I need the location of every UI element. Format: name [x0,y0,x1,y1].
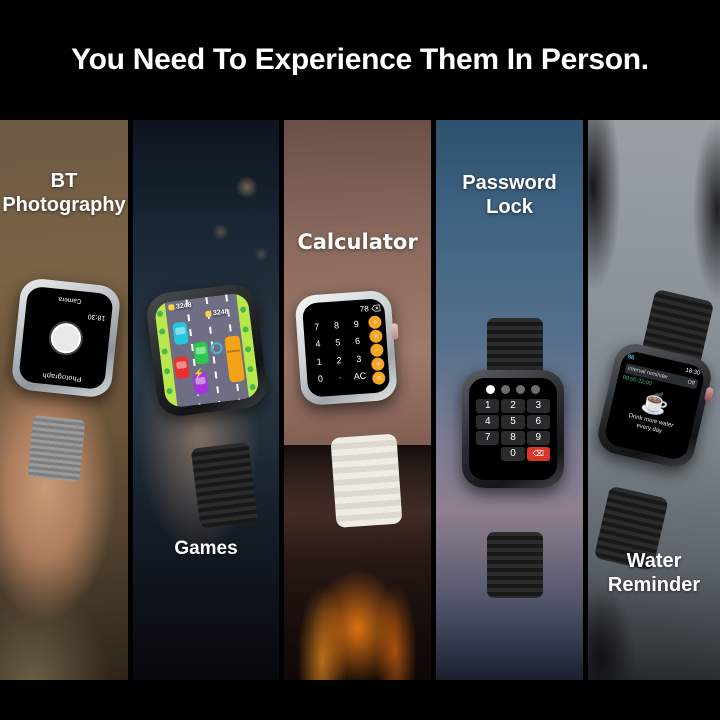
op-divide[interactable]: ÷ [368,315,382,329]
watch-band-bottom [487,532,543,598]
watch-screen: ⚡ 3248 3248 [153,292,260,409]
score-badge-icon [205,311,212,318]
interval-reminder-value: Off [687,379,695,386]
camera-time: 18:30 [88,312,106,321]
backspace-icon[interactable] [371,304,380,312]
pin-key-0[interactable]: 0 [501,447,524,461]
calculator-app[interactable]: 78 7 8 9 [302,298,391,398]
feature-panel-strip: BTPhotography Photograph 18:30 Camera [0,120,720,680]
panel-calculator[interactable]: Calculator 78 [284,120,431,680]
target-ring-icon [210,341,223,354]
battery-level: 86 [627,354,635,361]
calculator-operators[interactable]: ÷ × − + = [368,315,386,385]
pin-key-blank [476,447,499,461]
key-ac[interactable]: AC [350,368,370,386]
op-multiply[interactable]: × [369,329,383,343]
op-equals[interactable]: = [372,371,386,385]
pin-key-4[interactable]: 4 [476,415,499,429]
watch-screen: Photograph 18:30 Camera [18,285,114,390]
poster-canvas: You Need To Experience Them In Person. B… [0,0,720,720]
status-time: 18:30 [685,367,701,376]
panel-bt-photography[interactable]: BTPhotography Photograph 18:30 Camera [0,120,128,680]
watch-case: 78 7 8 9 [294,290,397,406]
calculator-keypad[interactable]: 7 8 9 4 5 6 1 2 3 0 [307,316,370,389]
panel-password-lock[interactable]: PasswordLock [436,120,583,680]
watch-band [330,434,402,528]
car-cyan [172,321,189,345]
key-4[interactable]: 4 [308,336,328,354]
watch-game: ⚡ 3248 3248 [145,282,278,470]
score-right: 3248 [205,308,229,318]
watch-screen: 78 7 8 9 [302,298,391,398]
pin-key-7[interactable]: 7 [476,431,499,445]
watch-case: 1 2 3 4 5 6 7 8 9 0 ⌫ [462,370,564,488]
grass-left [153,302,177,409]
pin-key-6[interactable]: 6 [527,415,550,429]
panel-caption: BTPhotography [0,170,128,217]
key-7[interactable]: 7 [307,319,327,337]
key-1[interactable]: 1 [309,354,329,372]
page-title: You Need To Experience Them In Person. [0,0,720,120]
watch-case: Photograph 18:30 Camera [10,277,121,399]
key-2[interactable]: 2 [329,352,349,370]
watch-lock: 1 2 3 4 5 6 7 8 9 0 ⌫ [462,370,568,546]
pin-dots [476,385,550,394]
pin-dot-4 [531,385,540,394]
pin-backspace-icon[interactable]: ⌫ [527,447,550,461]
pin-key-2[interactable]: 2 [501,399,524,413]
crown-button[interactable] [704,387,714,402]
pin-key-3[interactable]: 3 [527,399,550,413]
camera-title: Photograph [19,368,105,384]
watch-band [27,415,85,482]
op-plus[interactable]: + [371,357,385,371]
panel-caption: Calculator [284,230,431,255]
pin-dot-2 [501,385,510,394]
shutter-button[interactable] [50,321,83,354]
racing-game[interactable]: ⚡ 3248 3248 [153,292,260,409]
water-reminder-app[interactable]: 86 18:30 interval reminder Off 08:00-22:… [603,349,707,462]
bolt-icon: ⚡ [193,367,205,379]
panel-games[interactable]: Games [133,120,279,680]
watch-calculator: 78 7 8 9 [294,288,423,460]
panel-caption: PasswordLock [436,172,583,219]
pin-key-5[interactable]: 5 [501,415,524,429]
panel-water-reminder[interactable]: WaterReminder 86 18:30 interval remin [588,120,720,680]
panel-caption: Games [133,538,279,560]
key-3[interactable]: 3 [349,351,369,369]
pin-key-8[interactable]: 8 [501,431,524,445]
pin-dot-3 [516,385,525,394]
op-minus[interactable]: − [370,343,384,357]
car-green [192,341,209,365]
crown-button[interactable] [391,323,399,339]
key-dot[interactable]: · [330,370,350,388]
watch-band [191,442,258,528]
key-6[interactable]: 6 [348,334,368,352]
pin-keypad[interactable]: 1 2 3 4 5 6 7 8 9 0 ⌫ [476,399,550,461]
panel-caption: WaterReminder [588,550,720,597]
lock-screen[interactable]: 1 2 3 4 5 6 7 8 9 0 ⌫ [469,378,557,480]
score-badge-icon [168,304,175,311]
pin-key-1[interactable]: 1 [476,399,499,413]
pin-key-9[interactable]: 9 [527,431,550,445]
watch-screen: 1 2 3 4 5 6 7 8 9 0 ⌫ [469,378,557,480]
key-9[interactable]: 9 [346,316,366,334]
camera-label: Camera [27,291,113,307]
key-8[interactable]: 8 [327,317,347,335]
watch-case: ⚡ 3248 3248 [145,282,269,418]
watch-screen: 86 18:30 interval reminder Off 08:00-22:… [603,349,707,462]
key-0[interactable]: 0 [311,371,331,389]
car-red [173,355,190,379]
calculator-value: 78 [360,304,370,314]
pin-dot-1 [486,385,495,394]
watch-camera: Photograph 18:30 Camera [6,277,125,437]
key-5[interactable]: 5 [328,335,348,353]
